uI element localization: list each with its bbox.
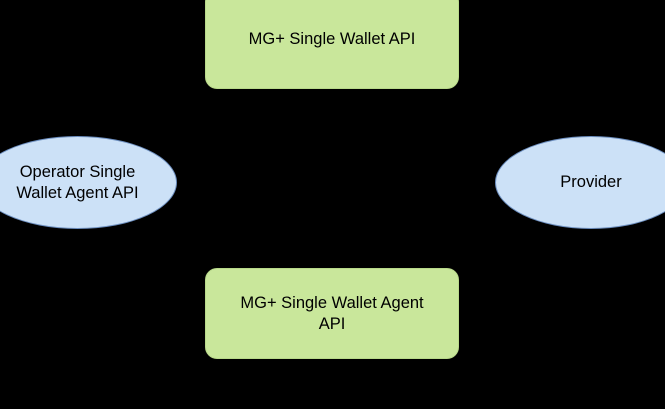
node-label-mg-single-wallet-api: MG+ Single Wallet API bbox=[239, 29, 426, 50]
node-mg-single-wallet-api[interactable]: MG+ Single Wallet API bbox=[205, 0, 459, 89]
node-label-operator-single-wallet-agent-api: Operator Single Wallet Agent API bbox=[6, 162, 148, 204]
node-label-provider: Provider bbox=[550, 172, 631, 193]
node-operator-single-wallet-agent-api[interactable]: Operator Single Wallet Agent API bbox=[0, 136, 177, 229]
node-mg-single-wallet-agent-api[interactable]: MG+ Single Wallet Agent API bbox=[205, 268, 459, 359]
node-label-mg-single-wallet-agent-api: MG+ Single Wallet Agent API bbox=[230, 293, 433, 335]
diagram-canvas: MG+ Single Wallet API Operator Single Wa… bbox=[0, 0, 665, 409]
node-provider[interactable]: Provider bbox=[495, 136, 665, 229]
